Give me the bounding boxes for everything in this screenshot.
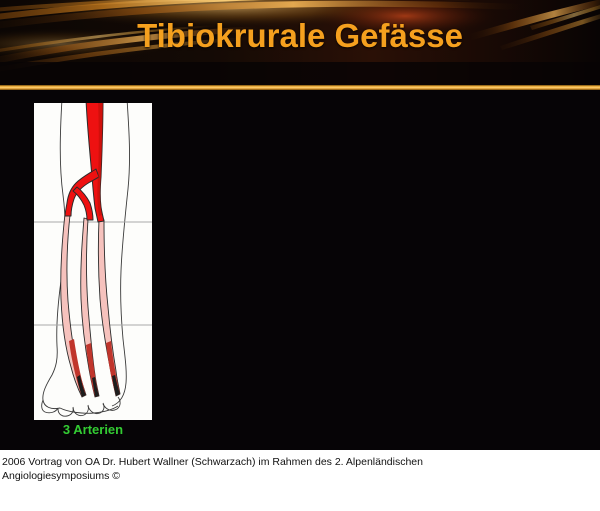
footer-line-2: Angiologiesymposiums © [2,469,598,483]
slide-body: 3 Arterien [0,90,600,450]
presentation-slide: Tibiokrurale Gefässe [0,0,600,511]
arteries-figure-svg [34,103,152,420]
slide-footer: 2006 Vortrag von OA Dr. Hubert Wallner (… [0,450,600,511]
slide-header-banner: Tibiokrurale Gefässe [0,0,600,86]
footer-line-1: 2006 Vortrag von OA Dr. Hubert Wallner (… [2,455,598,469]
figure-caption: 3 Arterien [34,422,152,437]
lower-leg-arteries-illustration [34,103,152,420]
slide-title: Tibiokrurale Gefässe [0,17,600,55]
